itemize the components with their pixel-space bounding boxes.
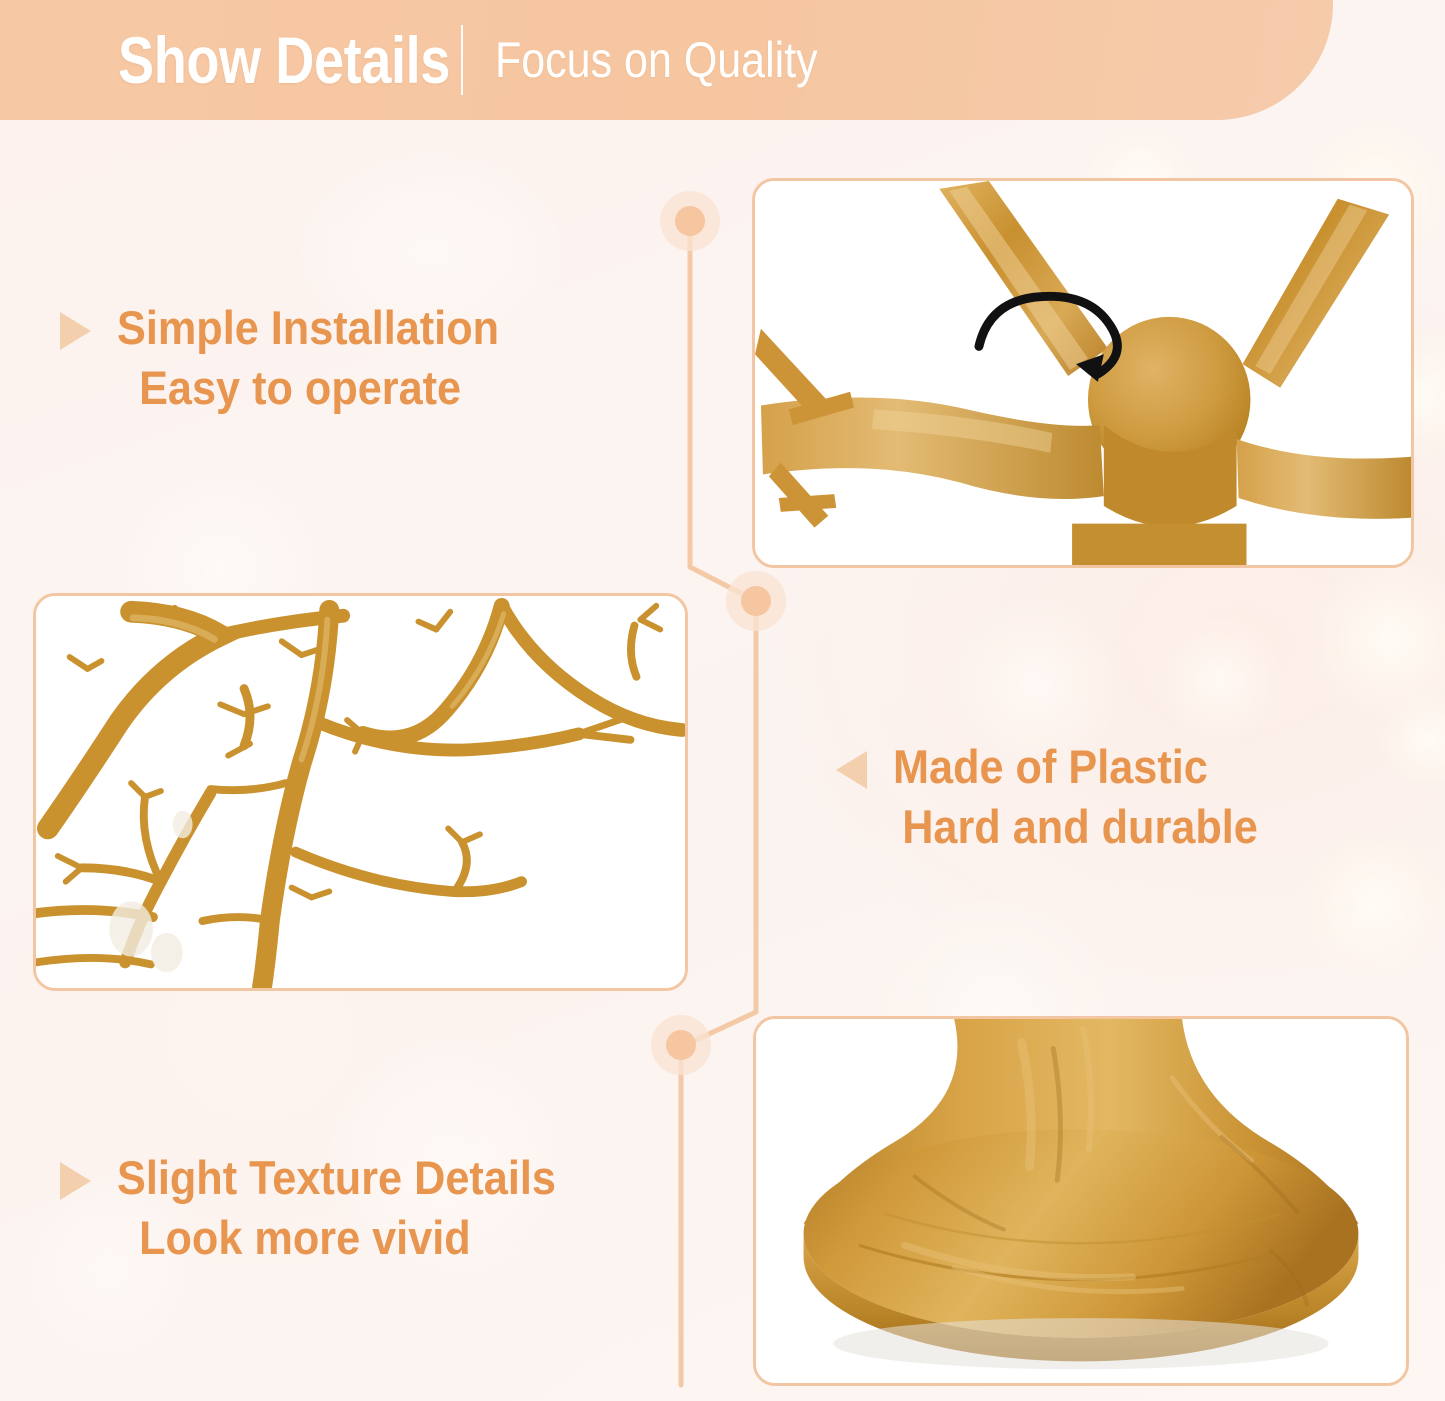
header-separator — [461, 25, 463, 95]
panel-branch-joint-photo — [752, 178, 1414, 568]
base-pedestal-illustration — [756, 1019, 1406, 1383]
feature-line-2: Look more vivid — [139, 1208, 556, 1268]
feature-text: Slight Texture Details Look more vivid — [117, 1148, 556, 1268]
feature-line-2: Hard and durable — [902, 797, 1258, 857]
feature-text: Simple Installation Easy to operate — [117, 298, 499, 418]
feature-line-1: Slight Texture Details — [117, 1151, 556, 1204]
feature-line-1: Simple Installation — [117, 301, 499, 354]
branch-joint-illustration — [755, 181, 1411, 565]
branches-illustration — [36, 596, 685, 988]
infographic-canvas: Show Details Focus on Quality Simple Ins… — [0, 0, 1445, 1401]
feature-text: Made of Plastic Hard and durable — [893, 737, 1258, 857]
feature-line-2: Easy to operate — [139, 358, 499, 418]
triangle-left-icon — [836, 751, 867, 789]
feature-slight-texture-details: Slight Texture Details Look more vivid — [60, 1148, 594, 1268]
feature-line-1: Made of Plastic — [893, 740, 1208, 793]
panel-branches-texture-photo — [33, 593, 688, 991]
panel-base-pedestal-photo — [753, 1016, 1409, 1386]
feature-simple-installation: Simple Installation Easy to operate — [60, 298, 532, 418]
header-banner-content: Show Details Focus on Quality — [118, 0, 870, 120]
triangle-right-icon — [60, 312, 91, 350]
triangle-right-icon — [60, 1162, 91, 1200]
header-banner: Show Details Focus on Quality — [0, 0, 1333, 120]
header-subtitle: Focus on Quality — [495, 35, 818, 85]
page-title: Show Details — [118, 27, 450, 93]
feature-made-of-plastic: Made of Plastic Hard and durable — [836, 737, 1290, 857]
